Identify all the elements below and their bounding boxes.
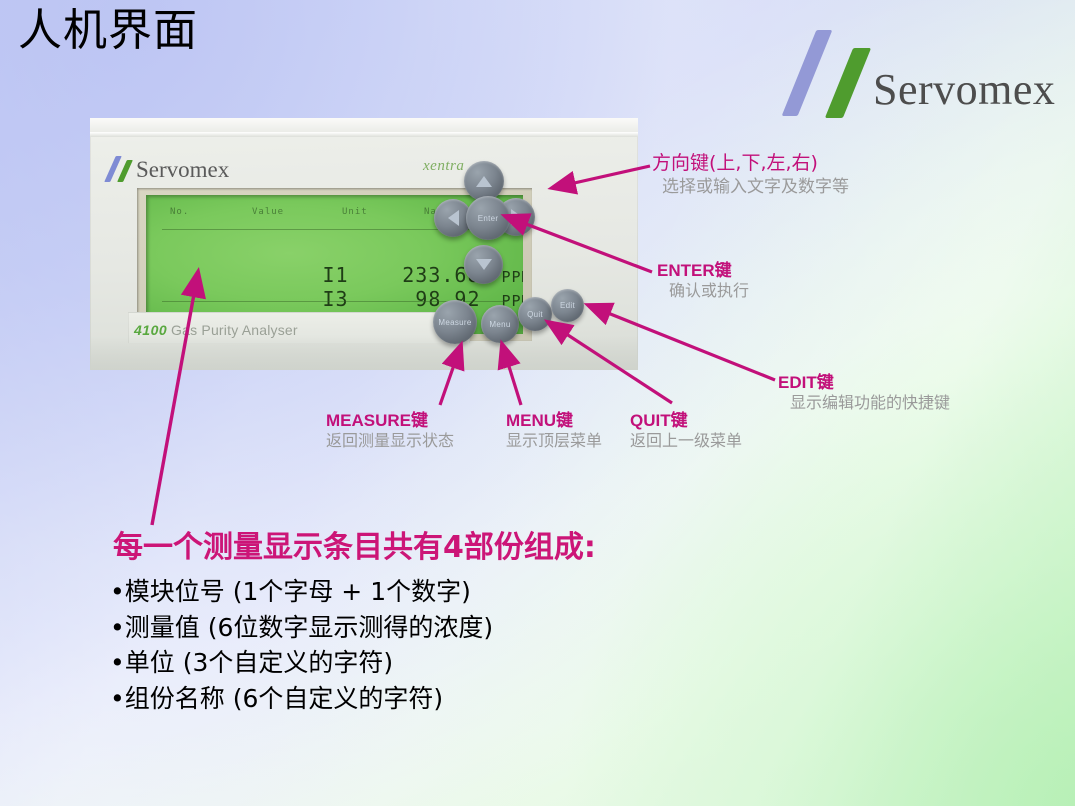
button-menu-label: Menu — [489, 320, 510, 329]
button-measure[interactable]: Measure — [433, 300, 477, 344]
lcd-cell-value: 233.68 — [363, 263, 481, 287]
annotation-enter-desc: 确认或执行 — [657, 281, 749, 302]
lcd-header-no: No. — [170, 207, 189, 217]
annotation-edit: EDIT键 显示编辑功能的快捷键 — [778, 372, 950, 414]
body-bullet-list: •模块位号 (1个字母 + 1个数字) •测量值 (6位数字显示测得的浓度) •… — [110, 574, 493, 716]
arrow-left-icon — [448, 210, 459, 226]
lcd-header-unit: Unit — [342, 207, 368, 217]
annotation-enter-key: ENTER键 — [657, 260, 749, 281]
button-menu[interactable]: Menu — [481, 305, 519, 343]
annotation-menu: MENU键 显示顶层菜单 — [506, 410, 602, 452]
photo-bevel — [90, 132, 638, 137]
panel-slash-green-icon — [117, 160, 133, 182]
panel-brand-label: Servomex — [136, 157, 229, 183]
button-edit[interactable]: Edit — [551, 289, 584, 322]
annotation-measure: MEASURE键 返回测量显示状态 — [326, 410, 454, 452]
logo-slash-green-icon — [825, 48, 871, 118]
bullet-item: •单位 (3个自定义的字符) — [110, 645, 493, 681]
bullet-item: •模块位号 (1个字母 + 1个数字) — [110, 574, 493, 610]
annotation-menu-key: MENU键 — [506, 410, 602, 431]
annotation-direction-desc: 选择或输入文字及数字等 — [652, 176, 849, 198]
annotation-measure-desc: 返回测量显示状态 — [326, 431, 454, 452]
logo-wordmark: Servomex — [873, 64, 1055, 115]
button-edit-label: Edit — [560, 301, 575, 310]
annotation-quit-desc: 返回上一级菜单 — [630, 431, 742, 452]
analyser-photo: Servomex xentra No. Value Unit Name I123… — [90, 118, 638, 370]
button-enter-label: Enter — [478, 214, 499, 223]
lcd-cell-no: I1 — [323, 263, 363, 287]
arrow-up-icon — [476, 176, 492, 187]
button-quit[interactable]: Quit — [518, 297, 552, 331]
page-title: 人机界面 — [18, 7, 198, 55]
arrow-right-icon — [511, 209, 522, 225]
annotation-quit-key: QUIT键 — [630, 410, 742, 431]
button-quit-label: Quit — [527, 310, 543, 319]
servomex-logo: Servomex — [795, 28, 1065, 128]
annotation-menu-desc: 显示顶层菜单 — [506, 431, 602, 452]
annotation-direction: 方向键(上,下,左,右) 选择或输入文字及数字等 — [652, 152, 849, 198]
bullet-item: •组份名称 (6个自定义的字符) — [110, 681, 493, 717]
lcd-header-value: Value — [252, 207, 284, 217]
body-heading: 每一个测量显示条目共有4部份组成: — [113, 522, 596, 566]
button-arrow-down[interactable] — [464, 245, 503, 284]
annotation-edit-key: EDIT键 — [778, 372, 950, 393]
arrow-down-icon — [476, 259, 492, 270]
photo-bottom-fade — [90, 336, 638, 370]
lcd-cell-no: I3 — [323, 287, 363, 311]
button-measure-label: Measure — [438, 318, 471, 327]
series-mark-label: xentra — [423, 158, 464, 175]
bullet-item: •测量值 (6位数字显示测得的浓度) — [110, 610, 493, 646]
annotation-measure-key: MEASURE键 — [326, 410, 454, 431]
slide-canvas: 人机界面 Servomex Servomex xentra No. Value … — [0, 0, 1075, 806]
button-enter[interactable]: Enter — [466, 196, 510, 240]
annotation-direction-key: 方向键(上,下,左,右) — [652, 152, 849, 176]
panel-servomex-logo: Servomex — [110, 154, 290, 184]
annotation-enter: ENTER键 确认或执行 — [657, 260, 749, 302]
annotation-quit: QUIT键 返回上一级菜单 — [630, 410, 742, 452]
button-arrow-up[interactable] — [464, 161, 504, 201]
annotation-edit-desc: 显示编辑功能的快捷键 — [778, 393, 950, 414]
